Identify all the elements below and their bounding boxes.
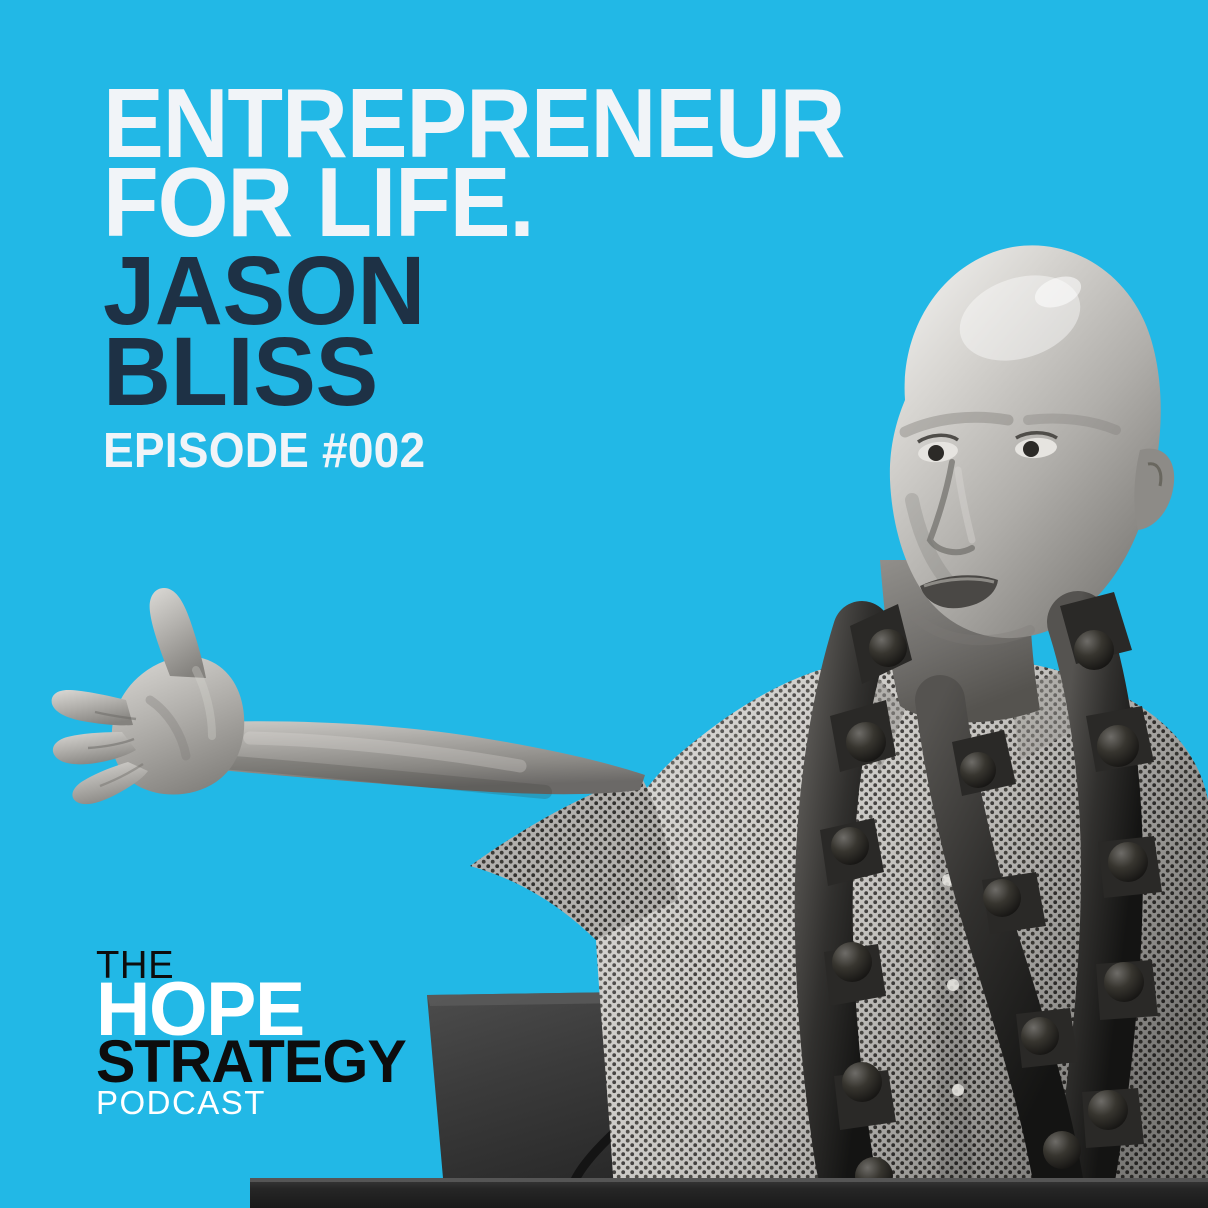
- svg-text:DELL: DELL: [626, 1116, 665, 1132]
- microphone: [663, 725, 822, 1190]
- cover-text-block: ENTREPRENEUR FOR LIFE. JASON BLISS EPISO…: [103, 82, 900, 476]
- hawaiian-lei: [820, 592, 1162, 1208]
- laptop: DELL: [427, 989, 861, 1180]
- podcast-logo: THE HOPE STRATEGY PODCAST: [96, 950, 411, 1117]
- neck: [880, 560, 1040, 722]
- podcast-cover-art: DELL: [0, 0, 1208, 1208]
- guest-last-name: BLISS: [103, 331, 876, 414]
- podium-edge: [250, 1178, 1208, 1182]
- head: [890, 245, 1174, 640]
- open-hand: [52, 588, 245, 804]
- torso-shirt: [470, 655, 1208, 1208]
- episode-title-line-2: FOR LIFE.: [103, 161, 844, 244]
- episode-number-label: EPISODE #002: [103, 427, 852, 476]
- podium-surface: [250, 1178, 1208, 1208]
- extended-arm: [112, 721, 645, 794]
- logo-word-strategy: STRATEGY: [96, 1036, 406, 1087]
